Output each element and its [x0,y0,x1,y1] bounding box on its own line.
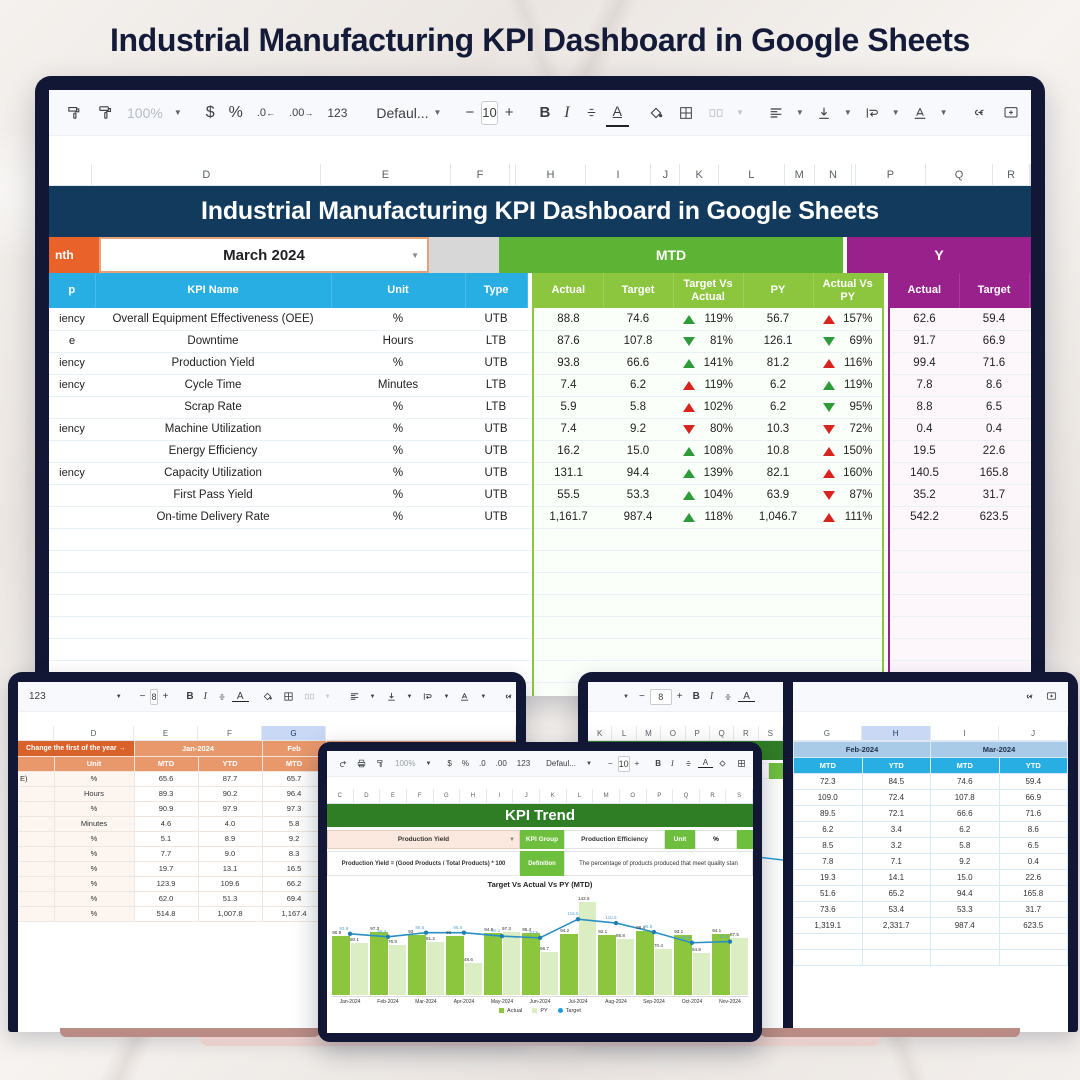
increase-decimal-label: .00 [289,107,304,119]
bl-rotation-chevron-down-icon[interactable]: ▼ [475,694,491,700]
rotation-chevron-down-icon[interactable]: ▼ [935,108,953,117]
br-right-formula-bar[interactable] [793,712,1068,726]
definition-label: Definition [520,851,564,876]
list-item[interactable]: 19.314.115.022.6 [794,870,1068,886]
italic-button[interactable]: I [557,99,576,127]
br-data-table: Feb-2024 Mar-2024 MTD YTD MTD YTD 72.384… [793,741,1068,966]
br-right-comment-icon[interactable] [1041,691,1062,702]
cell-value: 84.5 [862,774,931,790]
table-row-empty[interactable] [49,528,1031,550]
legend-py: PY [532,1008,547,1014]
bl-valign-chevron-down-icon[interactable]: ▼ [402,694,418,700]
table-row[interactable]: First Pass Yield%UTB55.553.3104%63.987%3… [49,484,1031,506]
text-rotation-icon[interactable] [905,99,935,127]
x-axis-tick: Jun-2024 [521,999,559,1005]
br-chevron-down-icon[interactable]: ▼ [618,694,634,700]
th-ytd-target: Target [959,273,1029,308]
font-chevron-down-icon[interactable]: ▼ [429,108,447,117]
cell-value: 94.4 [931,886,1000,902]
col-D[interactable]: D [92,164,321,185]
th-mtd-target-vs-actual: Target Vs Actual [673,273,743,308]
cell-ytd-arrow [1029,352,1031,374]
cell-type: UTB [465,440,527,462]
br-col-J[interactable]: J [999,726,1068,740]
bl-text-color-button[interactable]: A [232,692,249,702]
cell-ytd-arrow [1029,484,1031,506]
tb-fill-color-icon[interactable] [713,759,732,768]
font-family-selector[interactable]: Defaul... [366,105,428,121]
tb-redo-icon[interactable] [333,759,352,768]
br-right-link-icon[interactable] [1020,691,1041,702]
legend-target-label: Target [566,1008,581,1014]
cell-value: 7.1 [862,854,931,870]
tb-merge-icon[interactable] [751,759,753,768]
currency-format-button[interactable]: $ [199,99,222,127]
cell-mtd-target: 94.4 [603,462,673,484]
cell-actual-vs-py: 116% [813,352,883,374]
cell-ytd-target: 71.6 [959,352,1029,374]
bl-horizontal-align-icon[interactable] [344,691,365,702]
decrease-font-size-button[interactable]: − [458,99,481,127]
bl-font-size-input[interactable]: 8 [150,689,157,705]
trend-up-icon [683,359,695,368]
chart-point-label: 97.3 [502,926,511,931]
br-left-col-P[interactable]: P [686,726,710,740]
tb-col-L[interactable]: L [567,789,594,803]
kpi-table-body: iencyOverall Equipment Effectiveness (OE… [49,308,1031,696]
col-E[interactable]: E [321,164,450,185]
insert-link-icon[interactable] [965,99,996,127]
legend-actual-swatch [499,1008,504,1013]
halign-chevron-down-icon[interactable]: ▼ [791,108,809,117]
paint-roller-icon[interactable] [90,99,121,127]
col-P[interactable]: P [856,164,926,185]
cell-unit: % [331,506,465,528]
br-font-size-input[interactable]: 8 [650,689,672,705]
cell-value: 53.4 [862,902,931,918]
bl-increase-font-size-button[interactable]: + [158,691,174,702]
x-axis-tick: May-2024 [483,999,521,1005]
fill-color-icon[interactable] [641,99,671,127]
col-F[interactable]: F [451,164,511,185]
tb-italic-button[interactable]: I [666,759,679,768]
br-increase-font-size-button[interactable]: + [672,691,688,702]
bl-sub-mtd2: MTD [262,756,326,771]
cell-target-vs-actual: 81% [673,330,743,352]
cell-ytd-actual: 35.2 [889,484,959,506]
cell-ytd-target: 623.5 [959,506,1029,528]
col-I[interactable]: I [586,164,652,185]
tb-borders-icon[interactable] [732,759,751,768]
bl-sub-mtd1: MTD [134,756,198,771]
bl-more-formats-button[interactable]: 123 [24,691,51,702]
cell-value: 2,331.7 [862,918,931,934]
tb-col-I[interactable]: I [487,789,514,803]
table-row[interactable]: iencyCapacity Utilization%UTB131.194.413… [49,462,1031,484]
list-item[interactable]: 6.23.46.28.6 [794,822,1068,838]
th-unit: Unit [331,273,465,308]
list-item[interactable]: 1,319.12,331.7987.4623.5 [794,918,1068,934]
br-text-color-button[interactable]: A [738,692,755,702]
br-left-col-M[interactable]: M [637,726,661,740]
borders-icon[interactable] [671,99,701,127]
tb-col-P[interactable]: P [647,789,674,803]
cell-value: 107.8 [931,790,1000,806]
tb-currency-button[interactable]: $ [442,759,456,768]
tb-paint-format-icon[interactable] [371,759,390,768]
kpi-table-header-row: p KPI Name Unit Type Actual Target Targe… [49,273,1031,308]
cell-kpi-name: First Pass Yield [95,484,331,506]
bl-text-wrap-icon[interactable] [417,691,438,702]
cell-ytd-arrow [1029,418,1031,440]
br-formula-bar[interactable] [588,712,783,726]
section-header-row: nth March 2024 ▼ MTD Y [49,237,1031,273]
cell-value: 71.6 [999,806,1068,822]
cell-ytd-arrow [1029,440,1031,462]
cell-group [49,396,95,418]
tb-font-size-input[interactable]: 10 [618,756,630,772]
chart-point-label: 76.9 [388,939,397,944]
bl-strikethrough-icon[interactable] [212,692,232,702]
vertical-align-icon[interactable] [809,99,839,127]
br-subheader-row: MTD YTD MTD YTD [794,758,1068,774]
br-bold-button[interactable]: B [688,691,705,702]
tb-percent-button[interactable]: % [457,759,474,768]
tb-text-color-button[interactable]: A [698,759,713,767]
chart-point-label: 85.8 [616,933,625,938]
tb-increase-font-size-button[interactable]: + [630,759,645,768]
cell-value: 0.4 [999,854,1068,870]
tb-col-K[interactable]: K [540,789,567,803]
tb-col-D[interactable]: D [354,789,381,803]
cell-ytd-actual: 0.4 [889,418,959,440]
cell-value: 19.3 [794,870,863,886]
cell-actual-vs-py: 160% [813,462,883,484]
formula-bar[interactable] [49,136,1031,164]
main-column-headers: D E F H I J K L M N P Q R [49,164,1031,186]
dashboard-title-banner: Industrial Manufacturing KPI Dashboard i… [49,186,1031,237]
cell-mtd-py: 56.7 [743,308,813,330]
cell-kpi-name: Machine Utilization [95,418,331,440]
table-row[interactable]: Energy Efficiency%UTB16.215.0108%10.8150… [49,440,1031,462]
cell-mtd-actual: 5.9 [533,396,603,418]
tb-col-O[interactable]: O [620,789,647,803]
tb-increase-decimal-button[interactable]: .00 [491,759,512,768]
bl-decrease-font-size-button[interactable]: − [135,691,151,702]
x-axis-tick: Feb-2024 [369,999,407,1005]
tb-zoom-chevron-down-icon[interactable]: ▼ [420,761,436,767]
col-H[interactable]: H [516,164,586,185]
cell-mtd-target: 53.3 [603,484,673,506]
chart-point-label: 94.2 [560,928,569,933]
cell-value: 3.4 [862,822,931,838]
list-item-empty[interactable] [794,950,1068,966]
center-tablet-device: 100% ▼ $ % .0 .00 123 Defaul... ▼ − 10 +… [318,742,762,1042]
trend-up-icon [823,513,835,522]
br-col-G[interactable]: G [793,726,862,740]
chart-point-label: 110.5 [605,915,616,920]
text-color-button[interactable]: A [606,99,629,127]
cell-mtd-py: 82.1 [743,462,813,484]
table-row[interactable]: iencyProduction Yield%UTB93.866.6141%81.… [49,352,1031,374]
trend-down-icon [823,337,835,346]
cell-mtd-target: 66.6 [603,352,673,374]
br-strikethrough-icon[interactable] [718,692,738,702]
kpi-formula: Production Yield = (Good Products / Tota… [327,851,520,876]
bl-insert-link-icon[interactable] [499,691,516,702]
tb-zoom-level[interactable]: 100% [390,759,420,768]
cell-kpi-name: Production Yield [95,352,331,374]
br-sub-ytd2: YTD [999,758,1068,774]
cell-mtd-actual: 88.8 [533,308,603,330]
cell-actual-vs-py: 119% [813,374,883,396]
cell-value: 623.5 [999,918,1068,934]
th-ytd-actual: Actual [889,273,959,308]
col-J[interactable]: J [651,164,680,185]
cell-group: iency [49,352,95,374]
font-size-input[interactable]: 10 [481,101,497,125]
bl-col-rest [326,726,516,740]
cell-value: 14.1 [862,870,931,886]
tb-print-icon[interactable] [352,759,371,768]
tb-col-F[interactable]: F [407,789,434,803]
tb-col-J[interactable]: J [513,789,540,803]
cell-ytd-actual: 542.2 [889,506,959,528]
table-row-empty[interactable] [49,594,1031,616]
month-chevron-down-icon[interactable]: ▼ [411,251,419,260]
br-left-col-L[interactable]: L [612,726,636,740]
cell-unit: % [331,352,465,374]
chart-point-label: 48.6 [464,957,473,962]
br-col-I[interactable]: I [931,726,1000,740]
bl-bold-button[interactable]: B [181,691,198,702]
trend-up-icon [683,315,695,324]
cell-unit: % [331,396,465,418]
col-K[interactable]: K [680,164,719,185]
insert-comment-icon[interactable] [996,99,1026,127]
cell-mtd-actual: 55.5 [533,484,603,506]
wrap-chevron-down-icon[interactable]: ▼ [887,108,905,117]
kpi-selector-chevron-down-icon[interactable]: ▼ [509,837,515,843]
br-right-pane: GHIJ Feb-2024 Mar-2024 MTD YTD MTD YTD 7… [793,682,1068,1032]
bl-col-E[interactable]: E [134,726,198,740]
cell-ytd-actual: 8.8 [889,396,959,418]
tablet-column-headers: CDEFGHIJKLMOPQRS [327,789,753,804]
bl-merge-icon[interactable] [299,691,320,702]
chart-point-label: 96.5 [643,924,652,929]
bl-formula-bar[interactable] [18,712,516,726]
bl-col-D[interactable]: D [54,726,134,740]
tb-decrease-font-size-button[interactable]: − [603,759,618,768]
bl-vertical-align-icon[interactable] [381,691,402,702]
cell-unit: % [331,484,465,506]
br-italic-button[interactable]: I [705,691,718,702]
table-row[interactable]: iencyMachine Utilization%UTB7.49.280%10.… [49,418,1031,440]
cell-ytd-arrow [1029,396,1031,418]
tb-col-C[interactable]: C [327,789,354,803]
col-L[interactable]: L [719,164,785,185]
tb-col-H[interactable]: H [460,789,487,803]
cell-value: 6.2 [794,822,863,838]
bl-month-jan: Jan-2024 [134,741,262,756]
bl-fill-color-icon[interactable] [257,691,278,702]
x-axis-tick: Oct-2024 [673,999,711,1005]
tablet-unit-label: Unit [665,830,695,849]
br-table-body: 72.384.574.659.4109.072.4107.866.989.572… [794,774,1068,966]
cell-actual-vs-py: 150% [813,440,883,462]
month-selector[interactable]: March 2024 ▼ [99,237,429,273]
chart-point-label: 93 [408,929,413,934]
more-formats-button[interactable]: 123 [320,99,354,127]
bl-merge-chevron-down-icon[interactable]: ▼ [320,694,336,700]
increase-decimal-button[interactable]: .00→ [282,99,320,127]
bl-year-note: Change the first of the year → [18,741,134,756]
tb-font-selector[interactable]: Defaul... [541,759,581,768]
list-item[interactable]: 7.87.19.20.4 [794,854,1068,870]
valign-chevron-down-icon[interactable]: ▼ [839,108,857,117]
trend-up-icon [683,491,695,500]
tb-decrease-decimal-button[interactable]: .0 [474,759,491,768]
cell-actual-vs-py: 157% [813,308,883,330]
table-row-empty[interactable] [49,638,1031,660]
cell-type: LTB [465,396,527,418]
merge-cells-icon[interactable] [701,99,731,127]
list-item[interactable]: 8.53.25.86.5 [794,838,1068,854]
list-item[interactable]: 73.653.453.331.7 [794,902,1068,918]
cell-value: 66.9 [999,790,1068,806]
cell-value: 22.6 [999,870,1068,886]
bold-button[interactable]: B [532,99,557,127]
chart-x-axis: Jan-2024Feb-2024Mar-2024Apr-2024May-2024… [331,996,749,1005]
tb-col-S[interactable]: S [726,789,753,803]
tb-col-R[interactable]: R [700,789,727,803]
bl-chevron-down-icon[interactable]: ▼ [111,694,127,700]
cell-type: UTB [465,484,527,506]
tb-font-chevron-down-icon[interactable]: ▼ [581,761,597,767]
decrease-decimal-button[interactable]: .0← [250,99,282,127]
tb-col-G[interactable]: G [434,789,461,803]
x-axis-tick: Apr-2024 [445,999,483,1005]
chart-point-label: 116.5 [567,911,578,916]
paint-format-icon[interactable] [59,99,90,127]
bl-wrap-chevron-down-icon[interactable]: ▼ [438,694,454,700]
list-item[interactable]: 89.572.166.671.6 [794,806,1068,822]
col-Q[interactable]: Q [926,164,994,185]
table-row-empty[interactable] [49,616,1031,638]
cell-value: 7.8 [794,854,863,870]
table-row[interactable]: On-time Delivery Rate%UTB1,161.7987.4118… [49,506,1031,528]
table-row[interactable]: Scrap Rate%LTB5.95.8102%6.295%8.86.5 [49,396,1031,418]
col-M[interactable]: M [785,164,815,185]
chart-point-label: 66.7 [540,946,549,951]
table-row[interactable]: iencyOverall Equipment Effectiveness (OE… [49,308,1031,330]
legend-target-swatch [558,1008,563,1013]
bl-col-G[interactable]: G [262,726,326,740]
br-left-col-R[interactable]: R [734,726,758,740]
table-row[interactable]: eDowntimeHoursLTB87.6107.881%126.169%91.… [49,330,1031,352]
cell-actual-vs-py: 87% [813,484,883,506]
bl-text-rotation-icon[interactable] [454,691,475,702]
list-item[interactable]: 72.384.574.659.4 [794,774,1068,790]
tb-strikethrough-icon[interactable] [679,759,698,768]
list-item[interactable]: 109.072.4107.866.9 [794,790,1068,806]
tb-col-Q[interactable]: Q [673,789,700,803]
cell-group: e [49,330,95,352]
bl-borders-icon[interactable] [278,691,299,702]
br-left-column-headers: KLMOPQRS [588,726,783,741]
chart-point-label: 87.6 [529,930,538,935]
br-left-col-K[interactable]: K [588,726,612,740]
cell-ytd-target: 59.4 [959,308,1029,330]
chart-point-label: 81.9 [719,934,728,939]
legend-actual-label: Actual [507,1008,522,1014]
merge-chevron-down-icon[interactable]: ▼ [731,108,749,117]
col-R[interactable]: R [993,164,1030,185]
cell-mtd-actual: 16.2 [533,440,603,462]
percent-format-button[interactable]: % [222,99,250,127]
text-wrap-icon[interactable] [857,99,887,127]
col-N[interactable]: N [815,164,853,185]
cell-mtd-target: 107.8 [603,330,673,352]
trend-down-icon [683,425,695,434]
br-left-col-S[interactable]: S [759,726,783,740]
cell-group: iency [49,462,95,484]
bl-italic-button[interactable]: I [199,691,212,702]
chart-point-label: 80.1 [350,937,359,942]
cell-mtd-target: 6.2 [603,374,673,396]
chart-point-label: 95.6 [453,925,462,930]
cell-group: iency [49,418,95,440]
table-row-empty[interactable] [49,572,1031,594]
br-left-col-O[interactable]: O [661,726,685,740]
increase-font-size-button[interactable]: + [498,99,521,127]
bl-col-F[interactable]: F [198,726,262,740]
cell-type: UTB [465,462,527,484]
zoom-level[interactable]: 100% [121,105,169,121]
bl-halign-chevron-down-icon[interactable]: ▼ [365,694,381,700]
list-item[interactable]: 51.665.294.4165.8 [794,886,1068,902]
br-decrease-font-size-button[interactable]: − [634,691,650,702]
tb-col-E[interactable]: E [380,789,407,803]
legend-actual: Actual [499,1008,522,1014]
tb-col-M[interactable]: M [593,789,620,803]
chart-point-label: 90.1 [491,928,500,933]
cell-value: 74.6 [931,774,1000,790]
list-item-empty[interactable] [794,934,1068,950]
kpi-selector-dropdown[interactable]: Production Yield ▼ [327,830,520,849]
cell-ytd-actual: 19.5 [889,440,959,462]
tablet-formula-bar[interactable] [327,777,753,789]
chart-point-label: 64.8 [692,947,701,952]
cell-value: 987.4 [931,918,1000,934]
br-col-H[interactable]: H [862,726,931,740]
strikethrough-button[interactable] [577,99,606,127]
cell-group [49,506,95,528]
table-row[interactable]: iencyCycle TimeMinutesLTB7.46.2119%6.211… [49,374,1031,396]
zoom-chevron-down-icon[interactable]: ▼ [169,108,187,117]
br-left-col-Q[interactable]: Q [710,726,734,740]
trend-chart: 90.980.193.997.376.989.39381.295.69148.6… [331,891,749,995]
cell-value: 72.3 [794,774,863,790]
cell-mtd-actual: 7.4 [533,418,603,440]
tablet-green-tail [737,830,753,849]
tb-more-formats-button[interactable]: 123 [512,759,535,768]
tb-bold-button[interactable]: B [650,759,666,768]
month-selector-value: March 2024 [223,247,305,264]
horizontal-align-icon[interactable] [761,99,791,127]
cell-ytd-actual: 91.7 [889,330,959,352]
table-row-empty[interactable] [49,550,1031,572]
